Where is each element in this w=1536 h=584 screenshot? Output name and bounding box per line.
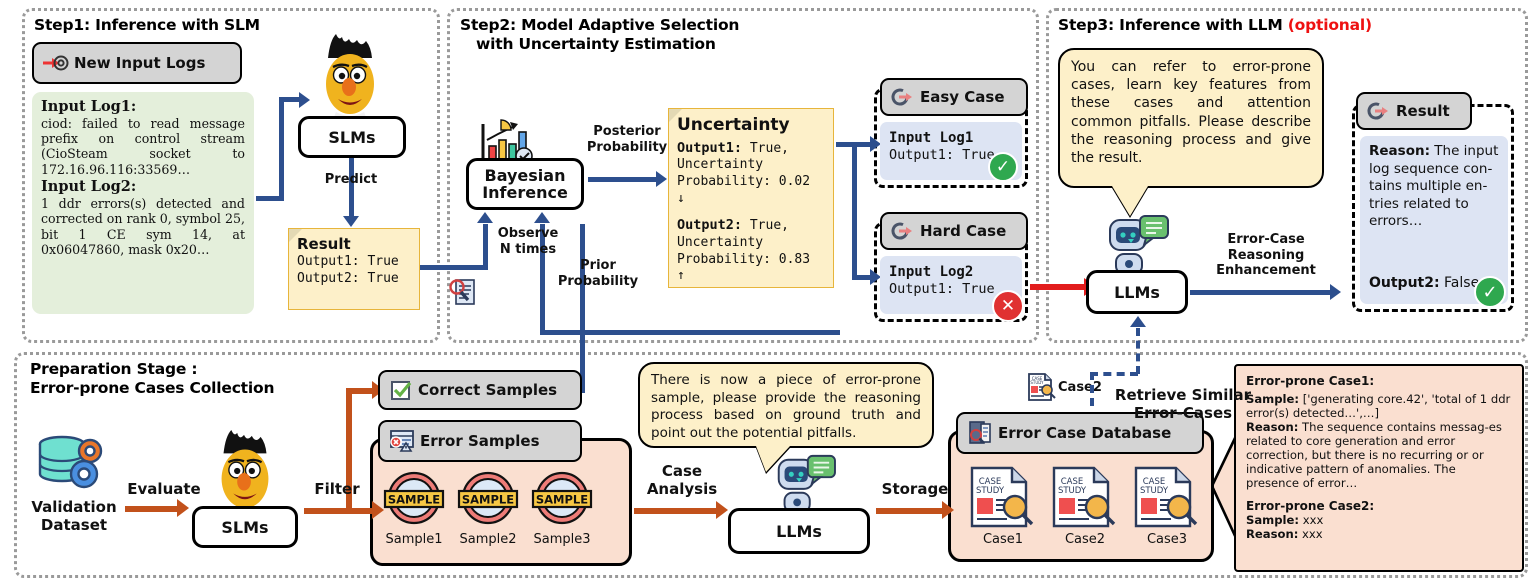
validation-dataset-label: Validation Dataset bbox=[16, 498, 132, 534]
arrow-storage-head bbox=[942, 501, 954, 519]
step1-title: Step1: Inference with SLM bbox=[34, 16, 260, 35]
arrow-hard-to-llms bbox=[1030, 284, 1088, 290]
llm-prompt-bubble: You can refer to error-prone cases, lear… bbox=[1058, 48, 1324, 188]
input-log1-label: Input Log1: bbox=[41, 98, 245, 116]
note-fold-corner-uncertainty bbox=[669, 109, 682, 122]
result-reason-label: Reason: bbox=[1369, 143, 1430, 159]
case-doc-1: CASE STUDY Case1 bbox=[962, 466, 1044, 547]
case-database-icon bbox=[967, 420, 993, 446]
llms-box-prep[interactable]: LLMs bbox=[728, 508, 870, 554]
arrow-filter-stem bbox=[304, 508, 352, 514]
svg-text:STUDY: STUDY bbox=[976, 486, 1005, 496]
sample-seal-2: SAMPLE Sample2 bbox=[452, 470, 524, 547]
arrow-evaluate-head bbox=[177, 499, 189, 517]
bayesian-line1: Bayesian bbox=[485, 167, 566, 184]
observe-n-times-label: Observe N times bbox=[483, 226, 573, 257]
error-samples-chip[interactable]: Error Samples bbox=[378, 420, 582, 462]
error-samples-label: Error Samples bbox=[420, 432, 540, 450]
unc-output2-value: True, bbox=[742, 218, 789, 233]
arrow-evaluate bbox=[125, 506, 181, 512]
db-case2-reason-text: xxx bbox=[1298, 527, 1322, 541]
db-case1-title: Error-prone Case1: bbox=[1246, 374, 1512, 389]
input-log2-label: Input Log2: bbox=[41, 178, 245, 196]
unc-output1-value: True, bbox=[742, 141, 789, 156]
result-output1-step1: Output1: True bbox=[297, 254, 411, 271]
correct-samples-label: Correct Samples bbox=[418, 381, 557, 399]
analysis-prompt-bubble-tail bbox=[756, 446, 790, 472]
arrow-slms-to-result bbox=[349, 158, 354, 220]
result-success-badge: ✓ bbox=[1474, 276, 1506, 308]
llms-label-step3: LLMs bbox=[1114, 283, 1160, 302]
arrow-posterior bbox=[588, 177, 660, 182]
arrow-gear-icon bbox=[43, 52, 69, 74]
unc-output1-label: Output1: bbox=[677, 140, 742, 156]
filter-label: Filter bbox=[300, 480, 374, 498]
arrow-observe-head bbox=[477, 212, 493, 223]
svg-text:SAMPLE: SAMPLE bbox=[388, 493, 440, 507]
analysis-prompt-bubble: There is now a piece of error-prone samp… bbox=[638, 362, 934, 448]
preparation-title: Preparation Stage : Error-prone Cases Co… bbox=[30, 360, 274, 399]
unc-output2-label: Output2: bbox=[677, 217, 742, 233]
llms-box-step3[interactable]: LLMs bbox=[1086, 270, 1188, 314]
retrieve-dash-h bbox=[1090, 372, 1138, 376]
svg-text:STUDY: STUDY bbox=[1058, 486, 1087, 496]
error-case-reasoning-enhancement-label: Error-Case Reasoning Enhancement bbox=[1196, 232, 1336, 279]
arrow-prior-h bbox=[540, 330, 840, 335]
arrow-logs-to-slms-v bbox=[279, 97, 284, 199]
unc-output2-prob: Probability: 0.83 ↑ bbox=[677, 252, 825, 285]
posterior-probability-label: Posterior Probability bbox=[578, 124, 676, 155]
db-case2-sample-label: Sample: bbox=[1246, 513, 1299, 527]
case-analysis-label: Case Analysis bbox=[636, 462, 728, 498]
hard-case-fail-badge: ✕ bbox=[992, 290, 1024, 322]
uncertainty-note: Uncertainty Output1: True, Uncertainty P… bbox=[668, 108, 834, 288]
step2-title: Step2: Model Adaptive Selection with Unc… bbox=[460, 16, 1020, 55]
easy-case-label: Easy Case bbox=[920, 88, 1005, 106]
llms-label-prep: LLMs bbox=[776, 522, 822, 541]
easy-case-chip[interactable]: Easy Case bbox=[880, 78, 1028, 116]
prior-probability-label: Prior Probability bbox=[546, 258, 650, 289]
bayesian-line2: Inference bbox=[482, 184, 568, 201]
unc-output1-prob: Probability: 0.02 ↓ bbox=[677, 174, 825, 207]
validation-dataset-icon bbox=[34, 432, 112, 496]
sample-seal-1: SAMPLE Sample1 bbox=[378, 470, 450, 547]
arrow-storage bbox=[876, 508, 948, 514]
hard-case-chip[interactable]: Hard Case bbox=[880, 212, 1028, 250]
uncertainty-title: Uncertainty bbox=[677, 115, 825, 137]
refresh-arrow-icon-result bbox=[1367, 100, 1391, 122]
arrow-logs-to-slms-h2 bbox=[279, 97, 301, 102]
result-title-step1: Result bbox=[297, 235, 411, 254]
error-window-icon bbox=[389, 429, 415, 453]
bert-slm-avatar-step1 bbox=[308, 28, 392, 124]
refresh-arrow-icon-hard bbox=[891, 220, 915, 242]
result-chip-step3[interactable]: Result bbox=[1356, 92, 1472, 130]
new-input-logs-label: New Input Logs bbox=[74, 54, 205, 72]
retrieve-dash-v1 bbox=[1090, 372, 1094, 406]
db-case1-reason-label: Reason: bbox=[1246, 420, 1298, 434]
unc-output1-l2: Uncertainty bbox=[677, 157, 825, 174]
slms-label-prep: SLMs bbox=[221, 518, 268, 537]
svg-text:SAMPLE: SAMPLE bbox=[462, 493, 514, 507]
retrieve-dash-head bbox=[1130, 316, 1146, 327]
step2-title-line2: with Uncertainty Estimation bbox=[476, 35, 1020, 54]
sample-label-3: Sample3 bbox=[526, 532, 598, 547]
arrow-slms-to-result-head bbox=[343, 216, 359, 227]
result-output2-label: Output2: bbox=[1369, 275, 1440, 291]
arrow-observe-h bbox=[420, 265, 488, 270]
case-label-2: Case2 bbox=[1044, 532, 1126, 547]
retrieve-dash-v2 bbox=[1136, 328, 1140, 374]
arrow-llms-to-result bbox=[1190, 290, 1334, 295]
bert-slm-avatar-prep bbox=[204, 424, 286, 518]
unc-output2-l2: Uncertainty bbox=[677, 235, 825, 252]
sample-label-2: Sample2 bbox=[452, 532, 524, 547]
hard-case-label: Hard Case bbox=[920, 222, 1006, 240]
case-label-3: Case3 bbox=[1126, 532, 1208, 547]
db-case2-reason-label: Reason: bbox=[1246, 527, 1298, 541]
predict-label: Predict bbox=[306, 172, 396, 188]
evaluate-label: Evaluate bbox=[118, 480, 210, 498]
easy-case-input: Input Log1 bbox=[889, 129, 1013, 147]
sample-label-1: Sample1 bbox=[378, 532, 450, 547]
db-case2-sample-text: xxx bbox=[1299, 513, 1323, 527]
correct-samples-chip[interactable]: Correct Samples bbox=[378, 370, 582, 410]
retrieved-case-tag: Case2 bbox=[1058, 380, 1102, 395]
easy-case-success-badge: ✓ bbox=[988, 152, 1018, 182]
slms-box-step1[interactable]: SLMs bbox=[298, 116, 406, 158]
db-case2-title: Error-prone Case2: bbox=[1246, 499, 1512, 514]
note-fold-corner bbox=[289, 229, 302, 242]
refresh-arrow-icon-easy bbox=[891, 86, 915, 108]
arrow-split-v bbox=[852, 142, 857, 280]
svg-text:STUDY: STUDY bbox=[1140, 486, 1169, 496]
case-label-1: Case1 bbox=[962, 532, 1044, 547]
llm-prompt-bubble-tail bbox=[1112, 186, 1148, 216]
bayesian-inference-box[interactable]: Bayesian Inference bbox=[466, 158, 584, 210]
hard-case-input: Input Log2 bbox=[889, 263, 1013, 281]
input-log1-text: ciod: failed to read message prefix on c… bbox=[41, 116, 245, 177]
arrow-posterior-head bbox=[656, 171, 667, 187]
result-output2-step1: Output2: True bbox=[297, 271, 411, 288]
case-doc-2: CASE STUDY Case2 bbox=[1044, 466, 1126, 547]
step3-optional-label: (optional) bbox=[1288, 16, 1372, 34]
svg-text:STUDY: STUDY bbox=[1030, 380, 1044, 385]
arrow-prior-head bbox=[534, 212, 550, 223]
case-doc-3: CASE STUDY Case3 bbox=[1126, 466, 1208, 547]
checked-box-icon bbox=[389, 379, 413, 401]
sample-seal-3: SAMPLE Sample3 bbox=[526, 470, 598, 547]
error-case-database-label: Error Case Database bbox=[998, 424, 1171, 442]
preparation-title-line2: Error-prone Cases Collection bbox=[30, 379, 274, 398]
arrow-llms-to-result-head bbox=[1330, 284, 1341, 300]
input-log2-text: 1 ddr errors(s) detected and corrected o… bbox=[41, 196, 245, 257]
storage-label: Storage bbox=[872, 480, 958, 498]
svg-text:SAMPLE: SAMPLE bbox=[536, 493, 588, 507]
result-note-step1: Result Output1: True Output2: True bbox=[288, 228, 420, 310]
arrow-case-analysis-head bbox=[716, 501, 728, 519]
input-logs-box: Input Log1: ciod: failed to read message… bbox=[32, 92, 254, 314]
new-input-logs-chip[interactable]: New Input Logs bbox=[32, 42, 242, 84]
arrow-correct-to-bayes-v bbox=[580, 224, 585, 392]
document-search-icon bbox=[448, 276, 478, 308]
retrieve-similar-label: Retrieve Similar Error-Cases bbox=[1100, 386, 1266, 422]
slms-label-step1: SLMs bbox=[328, 128, 375, 147]
slms-box-prep[interactable]: SLMs bbox=[192, 506, 298, 548]
error-case-text-panel: Error-prone Case1: Sample: ['generating … bbox=[1234, 364, 1524, 572]
step3-title: Step3: Inference with LLM (optional) bbox=[1058, 16, 1372, 35]
arrow-case-analysis bbox=[634, 508, 722, 514]
step2-title-line1: Step2: Model Adaptive Selection bbox=[460, 16, 1020, 35]
step3-title-text: Step3: Inference with LLM bbox=[1058, 16, 1288, 34]
result-chip-label: Result bbox=[1396, 102, 1450, 120]
robot-llm-avatar-step3 bbox=[1096, 212, 1172, 278]
preparation-title-line1: Preparation Stage : bbox=[30, 360, 274, 379]
